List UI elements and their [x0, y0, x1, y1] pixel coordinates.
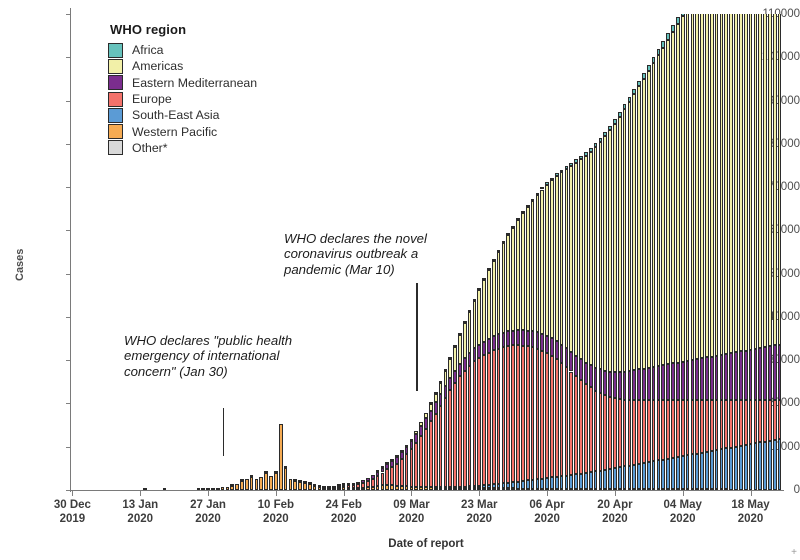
bar-segment: [371, 475, 375, 478]
bar-stack: [734, 14, 738, 490]
bar-segment: [536, 332, 540, 348]
bar-segment: [637, 400, 641, 464]
bar-segment: [705, 452, 709, 490]
bar-stack: [259, 477, 263, 490]
bar-segment: [628, 400, 632, 465]
legend: WHO region AfricaAmericasEastern Mediter…: [108, 22, 257, 156]
bar-segment: [676, 400, 680, 457]
bar-segment: [274, 473, 278, 490]
bar-segment: [589, 387, 593, 472]
bar-stack: [405, 445, 409, 490]
bar-segment: [637, 86, 641, 369]
bar-segment: [473, 361, 477, 486]
bar-stack: [361, 480, 365, 490]
bar-segment: [657, 366, 661, 400]
bar-segment: [492, 336, 496, 350]
bar-segment: [613, 398, 617, 468]
bar-segment: [419, 426, 423, 436]
bar-segment: [574, 356, 578, 376]
bar-segment: [492, 350, 496, 484]
bar-segment: [778, 345, 782, 401]
x-tick-label: 20 Apr2020: [597, 499, 632, 526]
bar-segment: [608, 126, 612, 131]
bar-segment: [715, 14, 719, 356]
bar-segment: [661, 400, 665, 459]
bar-segment: [768, 346, 772, 400]
bar-segment: [473, 301, 477, 349]
bar-segment: [671, 458, 675, 490]
bar-segment: [647, 65, 651, 71]
bar-stack: [424, 413, 428, 490]
bar-segment: [230, 484, 234, 486]
bar-segment: [739, 14, 743, 351]
bar-segment: [729, 448, 733, 490]
legend-item-label: Africa: [132, 43, 163, 57]
bar-segment: [647, 368, 651, 400]
bar-segment: [264, 473, 268, 490]
bar-segment: [661, 48, 665, 366]
bar-segment: [458, 335, 462, 364]
bar-segment: [448, 390, 452, 487]
bar-stack: [724, 14, 728, 490]
bar-segment: [506, 331, 510, 346]
bar-segment: [628, 102, 632, 371]
bar-segment: [599, 138, 603, 142]
bar-segment: [594, 368, 598, 391]
bar-segment: [705, 357, 709, 400]
bar-segment: [579, 474, 583, 489]
bar-segment: [390, 467, 394, 486]
bar-segment: [584, 384, 588, 473]
bar-segment: [642, 369, 646, 401]
bar-stack: [298, 482, 302, 490]
bar-stack: [390, 460, 394, 490]
bar-segment: [628, 97, 632, 102]
bar-segment: [749, 350, 753, 401]
bar-segment: [400, 452, 404, 459]
bar-segment: [754, 443, 758, 489]
bar-segment: [555, 359, 559, 476]
legend-swatch-icon: [108, 75, 123, 90]
bar-segment: [594, 147, 598, 368]
bar-segment: [429, 411, 433, 422]
bar-segment: [395, 464, 399, 486]
bar-segment: [506, 483, 510, 489]
bar-segment: [410, 441, 414, 449]
bar-stack: [603, 132, 607, 490]
legend-item-americas[interactable]: Americas: [108, 58, 257, 74]
bar-segment: [429, 402, 433, 404]
bar-segment: [763, 400, 767, 441]
bar-segment: [468, 353, 472, 366]
bar-stack: [715, 14, 719, 490]
bar-segment: [497, 334, 501, 348]
bar-stack: [608, 126, 612, 490]
bar-segment: [540, 187, 544, 189]
bar-segment: [681, 14, 685, 16]
bar-segment: [390, 461, 394, 467]
bar-segment: [293, 481, 297, 490]
bar-segment: [434, 394, 438, 403]
bar-stack: [628, 97, 632, 490]
bar-segment: [691, 454, 695, 489]
bar-stack: [429, 404, 433, 490]
bar-segment: [705, 400, 709, 451]
legend-swatch-icon: [108, 59, 123, 74]
bar-segment: [623, 466, 627, 489]
legend-item-western-pacific[interactable]: Western Pacific: [108, 123, 257, 139]
bar-segment: [574, 159, 578, 162]
bar-segment: [264, 471, 268, 473]
bar-stack: [289, 479, 293, 490]
bar-segment: [657, 49, 661, 56]
bar-segment: [439, 394, 443, 406]
bar-segment: [521, 211, 525, 213]
bar-segment: [661, 460, 665, 490]
bar-segment: [531, 347, 535, 479]
bar-segment: [536, 195, 540, 333]
bar-segment: [666, 400, 670, 458]
bar-segment: [332, 486, 336, 488]
bar-segment: [560, 170, 564, 173]
bar-segment: [754, 349, 758, 400]
bar-segment: [381, 466, 385, 468]
bar-segment: [754, 400, 758, 443]
bar-segment: [666, 40, 670, 365]
x-tick-label-date: 06 Apr: [529, 499, 564, 513]
bar-segment: [516, 482, 520, 489]
legend-item-label: Eastern Mediterranean: [132, 76, 257, 90]
bar-segment: [758, 14, 762, 348]
bar-segment: [565, 166, 569, 169]
bar-segment: [526, 346, 530, 480]
bar-segment: [376, 472, 380, 476]
bar-stack: [671, 25, 675, 490]
bar-segment: [763, 14, 767, 347]
bar-segment: [681, 16, 685, 361]
bar-stack: [414, 431, 418, 490]
bar-segment: [603, 136, 607, 371]
bar-segment: [599, 471, 603, 490]
bar-stack: [381, 468, 385, 490]
bar-segment: [526, 207, 530, 331]
bar-segment: [468, 310, 472, 312]
x-tick-label-year: 2020: [258, 513, 294, 527]
bar-segment: [327, 486, 331, 488]
bar-segment: [487, 353, 491, 485]
legend-item-other[interactable]: Other*: [108, 140, 257, 156]
bar-segment: [589, 365, 593, 387]
x-tick-label-date: 13 Jan: [122, 499, 158, 513]
bar-segment: [531, 201, 535, 332]
bar-stack: [473, 300, 477, 490]
bar-segment: [444, 386, 448, 398]
bar-segment: [778, 439, 782, 490]
bar-stack: [468, 311, 472, 490]
bar-segment: [686, 361, 690, 400]
bar-segment: [632, 89, 636, 95]
legend-item-label: Other*: [132, 141, 168, 155]
bar-segment: [419, 436, 423, 487]
bar-stack: [536, 193, 540, 490]
bar-segment: [545, 185, 549, 336]
bar-segment: [487, 485, 491, 488]
bar-segment: [569, 475, 573, 489]
bar-segment: [468, 366, 472, 487]
bar-segment: [526, 331, 530, 347]
bar-segment: [540, 190, 544, 335]
bar-segment: [550, 180, 554, 338]
x-tick-label-year: 2020: [122, 513, 158, 527]
x-tick-label-date: 04 May: [664, 499, 702, 513]
bar-segment: [734, 14, 738, 352]
legend-item-eastern-mediterranean[interactable]: Eastern Mediterranean: [108, 75, 257, 91]
bar-segment: [526, 480, 530, 488]
x-tick-mark: [276, 491, 277, 496]
bar-segment: [385, 462, 389, 464]
bar-segment: [734, 447, 738, 490]
bar-segment: [710, 400, 714, 451]
bar-segment: [569, 372, 573, 475]
bar-stack: [618, 112, 622, 490]
bar-segment: [589, 152, 593, 366]
bar-segment: [681, 456, 685, 489]
bar-stack: [584, 152, 588, 490]
bar-stack: [356, 483, 360, 490]
bar-segment: [618, 112, 622, 117]
bar-stack: [565, 166, 569, 490]
x-tick-label: 09 Mar2020: [393, 499, 429, 526]
bar-segment: [671, 400, 675, 458]
chart-figure: 0100002000030000400005000060000700008000…: [0, 0, 800, 560]
x-tick-label: 23 Mar2020: [461, 499, 497, 526]
bar-stack: [410, 439, 414, 490]
bar-segment: [729, 14, 733, 353]
bar-segment: [691, 360, 695, 400]
bar-segment: [240, 479, 244, 481]
bar-segment: [734, 400, 738, 446]
bar-segment: [565, 476, 569, 489]
bar-segment: [642, 463, 646, 489]
bar-segment: [361, 483, 365, 488]
x-tick-label-date: 24 Feb: [325, 499, 361, 513]
bar-segment: [584, 363, 588, 384]
x-tick-label-date: 23 Mar: [461, 499, 497, 513]
bar-segment: [502, 483, 506, 488]
bar-segment: [729, 400, 733, 447]
bar-stack: [579, 156, 583, 490]
bar-segment: [623, 400, 627, 467]
bar-segment: [691, 14, 695, 360]
x-tick-label-year: 2020: [529, 513, 564, 527]
bar-stack: [647, 65, 651, 490]
bar-stack: [526, 205, 530, 490]
bar-segment: [618, 399, 622, 467]
bar-stack: [666, 33, 670, 490]
x-tick-label-date: 27 Jan: [190, 499, 226, 513]
bar-segment: [768, 14, 772, 346]
bar-segment: [700, 400, 704, 452]
bar-segment: [429, 421, 433, 487]
bar-segment: [613, 372, 617, 398]
bar-segment: [569, 352, 573, 371]
bar-segment: [724, 448, 728, 489]
legend-swatch-icon: [108, 140, 123, 155]
bar-stack: [482, 279, 486, 490]
bar-segment: [477, 358, 481, 486]
bar-segment: [385, 464, 389, 469]
legend-item-label: Europe: [132, 92, 172, 106]
legend-swatch-icon: [108, 108, 123, 123]
bar-segment: [284, 466, 288, 468]
bar-stack: [652, 57, 656, 490]
bar-segment: [647, 462, 651, 489]
bar-segment: [632, 94, 636, 370]
bar-segment: [773, 14, 777, 345]
bar-segment: [381, 473, 385, 486]
legend-item-label: Western Pacific: [132, 125, 217, 139]
bar-segment: [642, 400, 646, 463]
bar-segment: [773, 400, 777, 439]
bar-segment: [516, 345, 520, 481]
bar-segment: [550, 178, 554, 180]
x-tick-label-date: 09 Mar: [393, 499, 429, 513]
bar-segment: [536, 193, 540, 195]
bar-stack: [642, 73, 646, 490]
bar-segment: [511, 331, 515, 346]
bar-segment: [511, 345, 515, 482]
bar-segment: [448, 359, 452, 378]
bar-segment: [763, 442, 767, 490]
bar-segment: [773, 345, 777, 400]
bar-segment: [410, 439, 414, 441]
bar-segment: [569, 166, 573, 352]
legend-item-europe[interactable]: Europe: [108, 91, 257, 107]
bar-segment: [414, 443, 418, 487]
bar-stack: [623, 104, 627, 490]
bar-segment: [448, 378, 452, 390]
bar-segment: [681, 362, 685, 401]
bar-segment: [691, 400, 695, 454]
bar-segment: [550, 477, 554, 488]
bar-segment: [477, 288, 481, 290]
bar-segment: [763, 347, 767, 400]
bar-segment: [482, 278, 486, 280]
bar-stack: [269, 476, 273, 490]
bar-stack: [250, 476, 254, 490]
bar-segment: [758, 348, 762, 400]
bar-segment: [385, 469, 389, 485]
bar-segment: [250, 477, 254, 490]
bar-segment: [778, 400, 782, 439]
bar-segment: [439, 383, 443, 394]
bar-segment: [356, 484, 360, 488]
legend-item-south-east-asia[interactable]: South-East Asia: [108, 107, 257, 123]
bar-segment: [637, 369, 641, 400]
bar-segment: [574, 163, 578, 356]
bar-segment: [642, 79, 646, 369]
bar-segment: [453, 345, 457, 347]
bar-segment: [545, 478, 549, 489]
legend-title: WHO region: [110, 22, 257, 37]
bar-segment: [395, 455, 399, 457]
bar-segment: [482, 485, 486, 488]
bar-segment: [652, 400, 656, 461]
bar-segment: [531, 480, 535, 489]
bar-segment: [298, 482, 302, 490]
bar-segment: [594, 471, 598, 489]
bar-segment: [405, 445, 409, 447]
bar-segment: [458, 333, 462, 335]
bar-segment: [410, 449, 414, 487]
x-tick-label: 06 Apr2020: [529, 499, 564, 526]
bar-segment: [477, 486, 481, 488]
bar-segment: [434, 402, 438, 413]
bar-stack: [661, 41, 665, 490]
bar-segment: [463, 321, 467, 323]
bar-segment: [463, 358, 467, 371]
bar-segment: [618, 117, 622, 372]
bar-segment: [666, 33, 670, 40]
bar-segment: [400, 450, 404, 452]
bar-segment: [366, 481, 370, 487]
bar-segment: [468, 486, 472, 488]
bar-segment: [414, 434, 418, 443]
bar-segment: [540, 334, 544, 351]
legend-item-africa[interactable]: Africa: [108, 42, 257, 58]
bar-stack: [395, 457, 399, 490]
bar-segment: [516, 220, 520, 330]
bar-segment: [347, 483, 351, 485]
bar-segment: [657, 400, 661, 460]
bar-segment: [724, 354, 728, 400]
bar-segment: [274, 471, 278, 473]
bar-stack: [657, 49, 661, 490]
bar-segment: [255, 479, 259, 490]
bar-segment: [342, 485, 346, 487]
bar-segment: [463, 323, 467, 358]
bar-segment: [768, 441, 772, 490]
bar-segment: [497, 250, 501, 252]
bar-stack: [676, 17, 680, 490]
bar-stack: [448, 359, 452, 490]
bar-segment: [487, 270, 491, 338]
bar-stack: [613, 119, 617, 490]
bar-stack: [279, 424, 283, 490]
bar-segment: [269, 476, 273, 490]
bar-segment: [681, 400, 685, 456]
bar-segment: [303, 481, 307, 483]
bar-segment: [497, 484, 501, 488]
bar-segment: [250, 475, 254, 477]
bar-segment: [395, 457, 399, 463]
bar-segment: [414, 431, 418, 434]
bar-stack: [574, 159, 578, 490]
bar-segment: [477, 290, 481, 345]
bar-segment: [390, 459, 394, 461]
bar-stack: [705, 14, 709, 490]
bar-segment: [318, 485, 322, 487]
bar-segment: [608, 372, 612, 398]
x-tick-label: 27 Jan2020: [190, 499, 226, 526]
bar-stack: [444, 371, 448, 490]
bar-segment: [749, 14, 753, 350]
bar-segment: [647, 71, 651, 368]
bar-segment: [536, 479, 540, 489]
bar-segment: [482, 342, 486, 356]
bar-stack: [700, 14, 704, 490]
bar-segment: [647, 400, 651, 462]
